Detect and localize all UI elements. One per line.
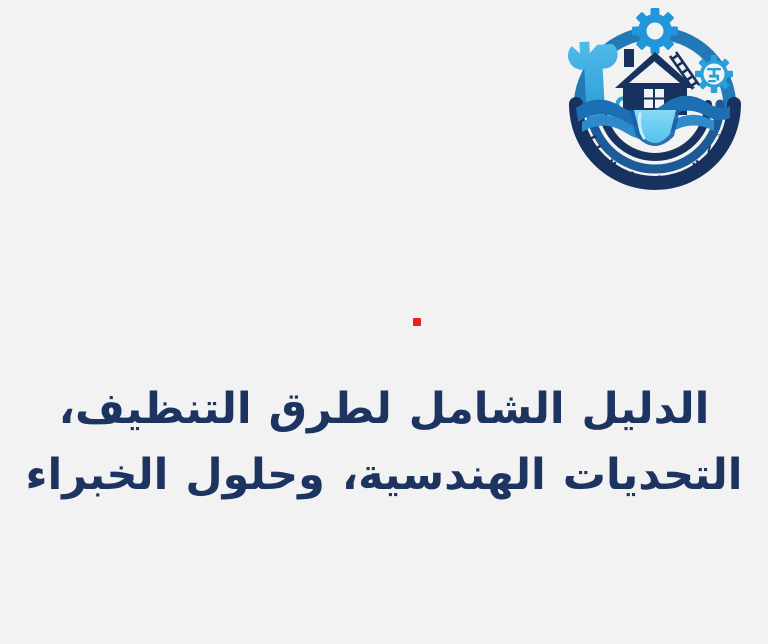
company-logo[interactable]: شركة الهدف لخدمات العوازل — [560, 4, 750, 190]
faucet-gear-icon — [695, 55, 733, 93]
page-title-block: الدليل الشامل لطرق التنظيف، التحديات اله… — [0, 376, 768, 508]
red-dot-marker — [413, 318, 421, 326]
page-title: الدليل الشامل لطرق التنظيف، التحديات اله… — [0, 376, 768, 508]
company-logo-svg: شركة الهدف لخدمات العوازل — [560, 4, 750, 190]
water-droplet-icon — [630, 110, 680, 146]
article-header-page: شركة الهدف لخدمات العوازل الدليل الشامل … — [0, 0, 768, 644]
gear-icon — [632, 8, 678, 54]
